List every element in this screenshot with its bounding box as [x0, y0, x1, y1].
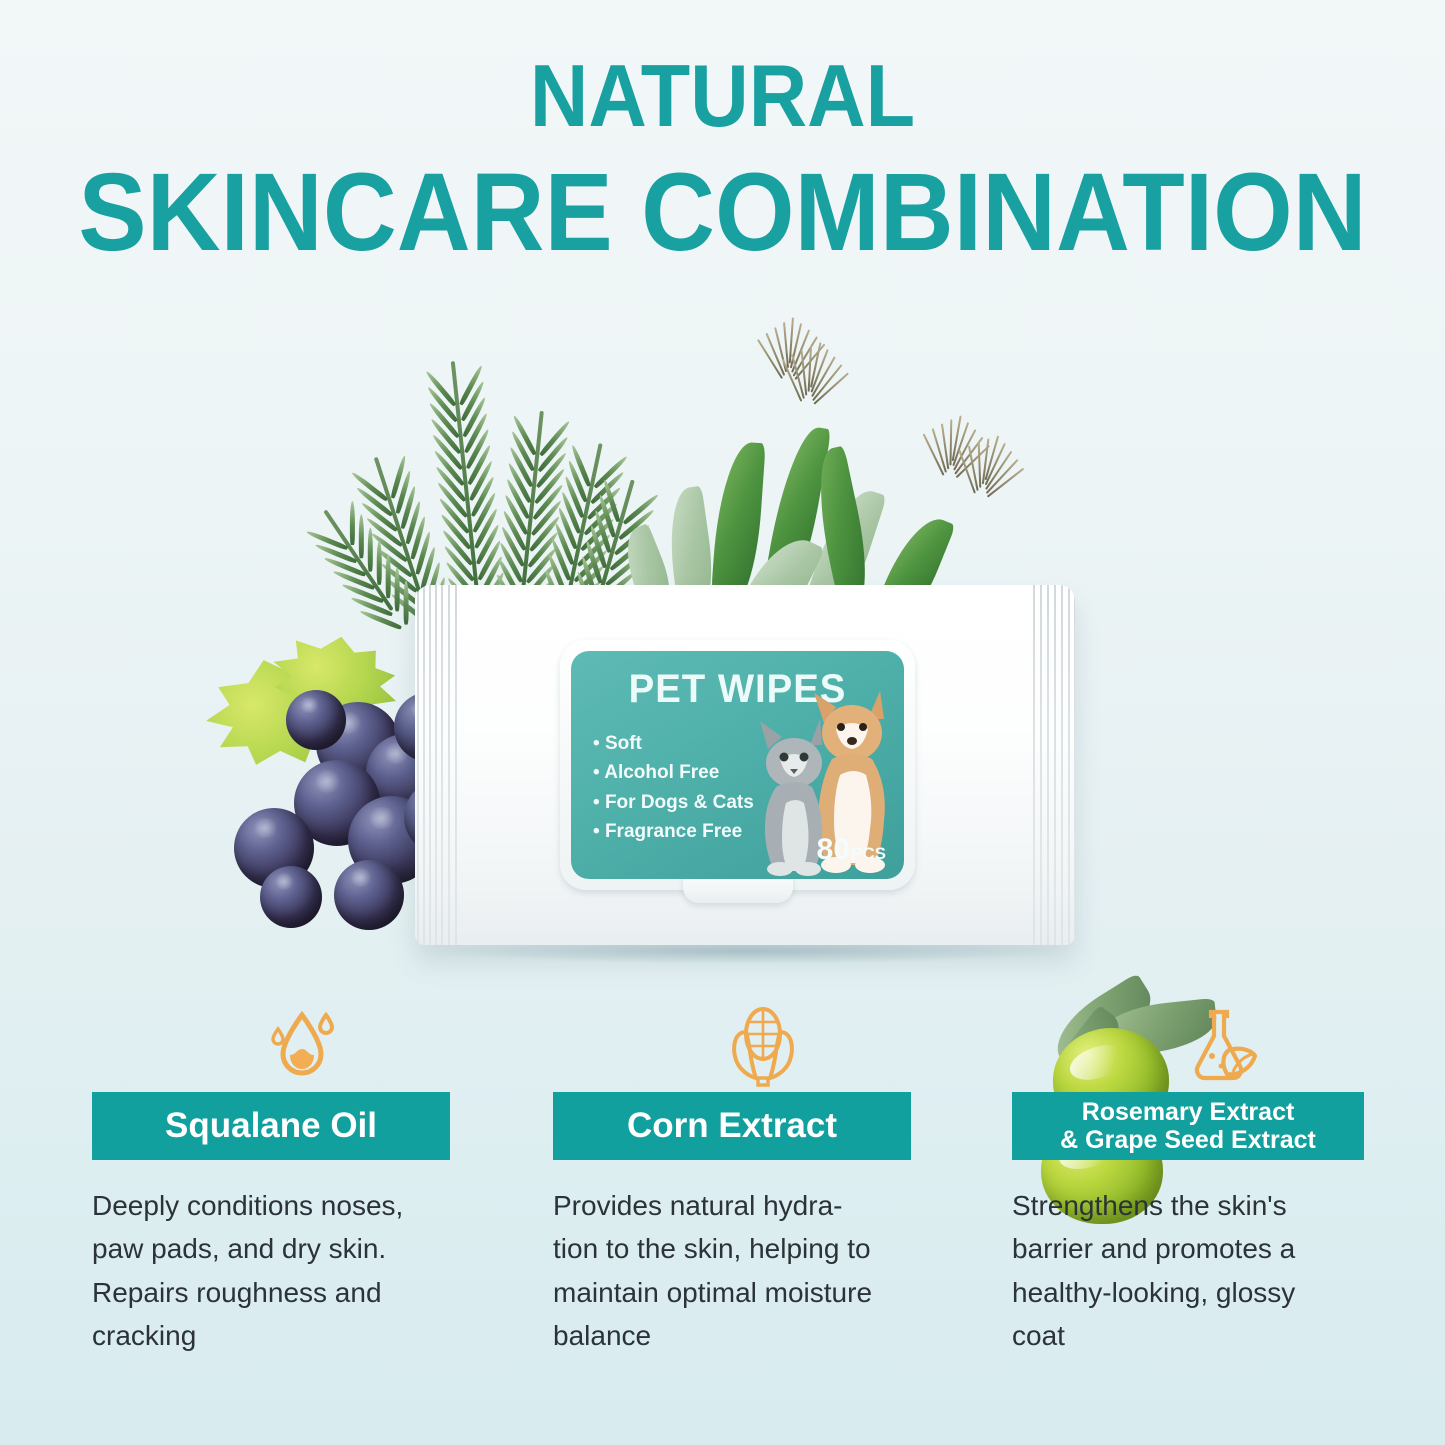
product-label: PET WIPES SoftAlcohol FreeFor Dogs & Cat…	[571, 651, 904, 879]
background-plants	[380, 300, 1080, 600]
rosemary-sprig	[323, 509, 393, 611]
page-title: NATURAL SKINCARE COMBINATION	[0, 52, 1445, 268]
rosemary-needle	[350, 501, 355, 545]
grape	[260, 866, 322, 928]
rosemary-needle	[395, 567, 400, 611]
feature-column-corn-extract: Corn Extract Provides natural hydra- tio…	[553, 1000, 973, 1358]
feature-title-banner: Rosemary Extract & Grape Seed Extract	[1012, 1092, 1364, 1160]
rosemary-needle	[386, 554, 391, 598]
rosemary-needle	[368, 528, 373, 572]
rosemary-needle	[404, 581, 409, 625]
feature-title-line: Squalane Oil	[165, 1106, 377, 1145]
piece-count-unit: PCS	[851, 844, 886, 864]
feature-columns: Squalane Oil Deeply conditions noses, pa…	[0, 1000, 1445, 1445]
piece-count-number: 80	[817, 833, 850, 867]
feature-description: Deeply conditions noses, paw pads, and d…	[92, 1184, 470, 1358]
flask-with-leaf-icon	[1012, 1000, 1432, 1092]
rosemary-needle	[359, 514, 364, 558]
promo-page: NATURAL SKINCARE COMBINATION PET WIPES S…	[0, 0, 1445, 1445]
package-lid: PET WIPES SoftAlcohol FreeFor Dogs & Cat…	[560, 640, 915, 890]
feature-title-banner: Squalane Oil	[92, 1092, 450, 1160]
product-hero-scene: PET WIPES SoftAlcohol FreeFor Dogs & Cat…	[0, 300, 1445, 990]
feature-description: Strengthens the skin's barrier and promo…	[1012, 1184, 1390, 1358]
grape	[334, 860, 404, 930]
rosemary-sprig	[520, 411, 544, 600]
piece-count: 80 PCS	[817, 833, 886, 867]
package-ribs-right	[1029, 585, 1075, 945]
rosemary-needle	[377, 541, 382, 585]
feature-column-rosemary-grape-seed: Rosemary Extract & Grape Seed Extract St…	[1012, 1000, 1432, 1358]
feature-title-line-1: Rosemary Extract	[1082, 1098, 1295, 1126]
corn-cob-icon	[553, 1000, 973, 1092]
feature-title-line: Corn Extract	[627, 1106, 837, 1145]
rosemary-sprig	[451, 361, 479, 592]
headline-line-1: NATURAL	[58, 52, 1387, 140]
lid-notch	[683, 877, 793, 903]
oil-droplet-icon	[92, 1000, 512, 1092]
headline-line-2: SKINCARE COMBINATION	[51, 158, 1395, 268]
feature-column-squalane-oil: Squalane Oil Deeply conditions noses, pa…	[92, 1000, 512, 1358]
grape	[286, 690, 346, 750]
feature-title-line-2: & Grape Seed Extract	[1060, 1126, 1316, 1154]
pet-wipes-package: PET WIPES SoftAlcohol FreeFor Dogs & Cat…	[415, 585, 1075, 945]
feature-title-banner: Corn Extract	[553, 1092, 911, 1160]
package-ribs-left	[415, 585, 461, 945]
feature-description: Provides natural hydra- tion to the skin…	[553, 1184, 931, 1358]
